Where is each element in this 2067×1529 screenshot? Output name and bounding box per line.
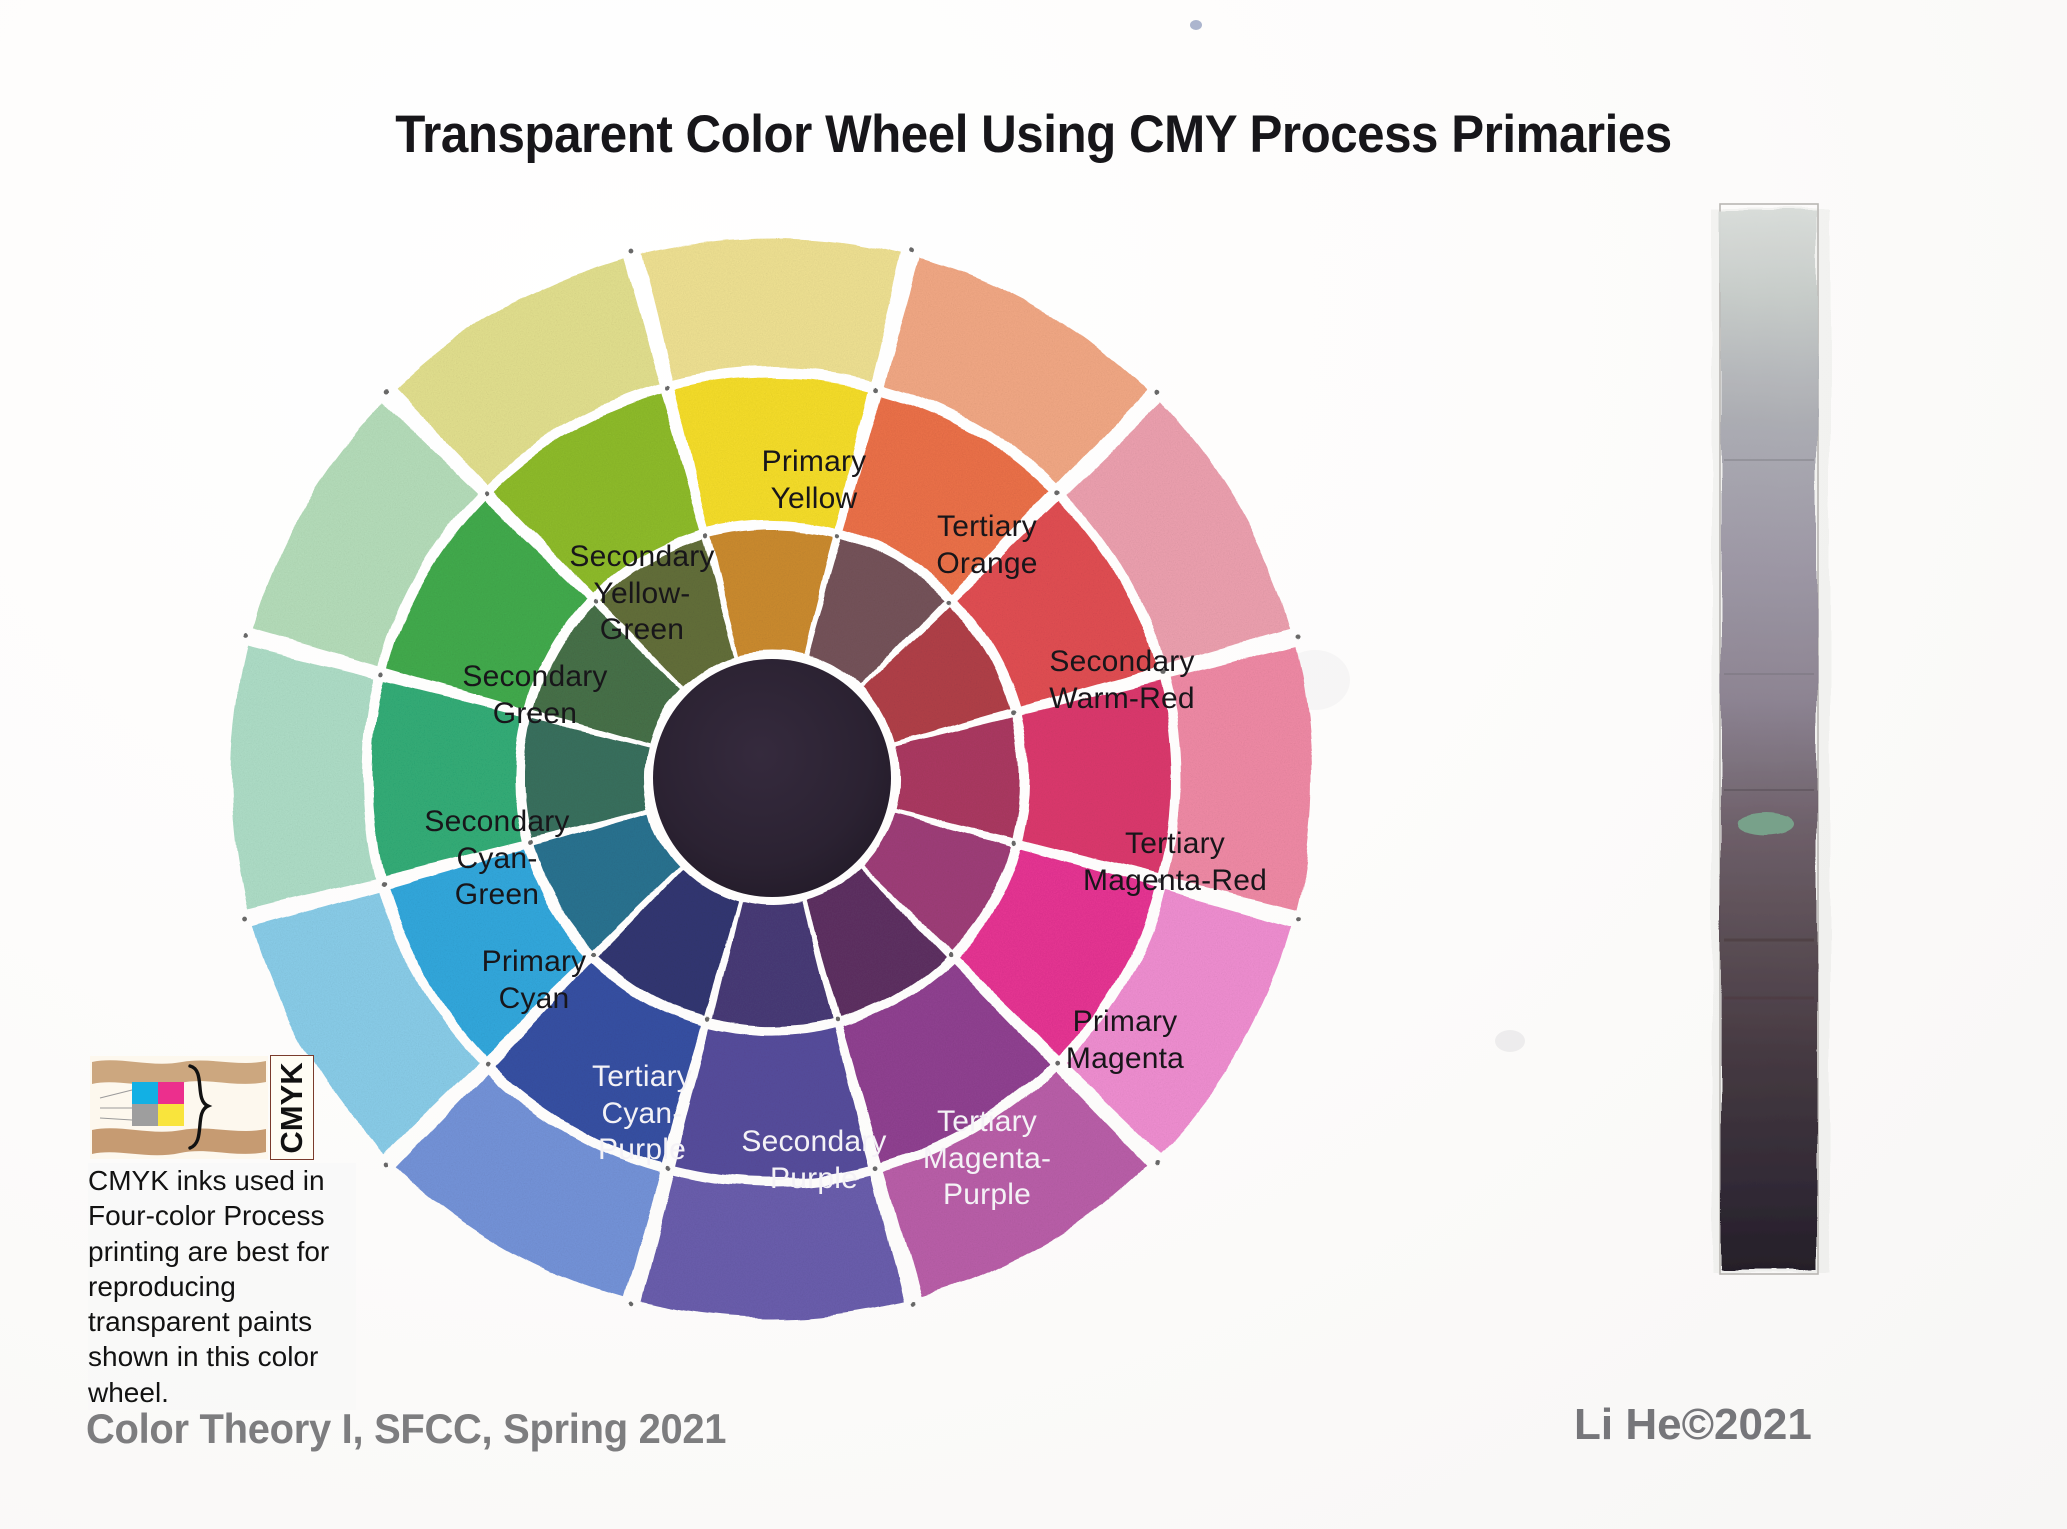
yellow-chip — [158, 1104, 184, 1126]
registration-dot — [593, 952, 598, 957]
registration-dot — [705, 534, 710, 539]
registration-dot — [1011, 840, 1016, 845]
registration-dot — [379, 880, 384, 885]
course-caption: Color Theory I, SFCC, Spring 2021 — [86, 1405, 726, 1453]
wheel-segment — [232, 647, 374, 909]
registration-dot — [1155, 1161, 1160, 1166]
registration-dot — [665, 385, 670, 390]
color-wheel: Primary YellowTertiary OrangeSecondary W… — [222, 228, 1322, 1328]
registration-dot — [528, 711, 533, 716]
registration-dot — [1296, 635, 1301, 640]
wheel-segment — [1170, 647, 1312, 909]
cmyk-sidebar-label: CMYK — [270, 1055, 314, 1160]
cmyk-note-text: CMYK inks used in Four-color Process pri… — [88, 1163, 356, 1410]
registration-dot — [874, 385, 879, 390]
registration-dot — [379, 671, 384, 676]
cmyk-four-color-process-diagram: CMYK — [90, 1056, 268, 1159]
registration-dot — [911, 249, 916, 254]
registration-dot — [384, 390, 389, 395]
cmyk-annotation-block: CMYK CMYK inks used in Four-color Proces… — [88, 1056, 378, 1410]
registration-dot — [705, 1017, 710, 1022]
registration-dot — [528, 840, 533, 845]
registration-dot — [665, 1166, 670, 1171]
magenta-chip — [158, 1082, 184, 1104]
registration-dot — [484, 1061, 489, 1066]
artist-signature: Li He©2021 — [1574, 1400, 1812, 1450]
registration-dot — [946, 952, 951, 957]
registration-dot — [834, 534, 839, 539]
registration-dot — [1155, 390, 1160, 395]
registration-dot — [1011, 711, 1016, 716]
registration-dot — [629, 1302, 634, 1307]
registration-dot — [384, 1161, 389, 1166]
registration-dot — [1055, 1061, 1060, 1066]
value-strip-svg — [1710, 198, 1832, 1283]
registration-dot — [1160, 671, 1165, 676]
registration-dot — [243, 917, 248, 922]
wheel-segment — [372, 681, 522, 875]
wheel-segment — [1022, 681, 1172, 875]
cmyk-sidebar-label-text: CMYK — [274, 1062, 310, 1153]
registration-dot — [946, 599, 951, 604]
color-wheel-svg — [222, 228, 1322, 1328]
registration-dot — [593, 599, 598, 604]
registration-dot — [1296, 917, 1301, 922]
registration-dot — [911, 1302, 916, 1307]
cyan-chip — [132, 1082, 158, 1104]
black-chip — [132, 1104, 158, 1126]
registration-dot — [834, 1017, 839, 1022]
registration-dot — [874, 1166, 879, 1171]
wheel-segment — [675, 378, 869, 528]
value-scale-swatch — [1710, 198, 1832, 1283]
center-neutral-swatch — [653, 659, 891, 897]
wheel-segment — [641, 238, 903, 380]
registration-dot — [1055, 490, 1060, 495]
page-title: Transparent Color Wheel Using CMY Proces… — [72, 104, 1994, 165]
wheel-segment — [675, 1028, 869, 1178]
registration-dot — [484, 490, 489, 495]
paper-smudge — [1495, 1030, 1525, 1052]
registration-dot — [1160, 880, 1165, 885]
registration-dot — [629, 249, 634, 254]
cmyk-diagram-svg — [90, 1056, 268, 1159]
registration-dot — [243, 635, 248, 640]
wheel-segment — [641, 1176, 903, 1318]
paper-smudge — [1190, 20, 1202, 30]
